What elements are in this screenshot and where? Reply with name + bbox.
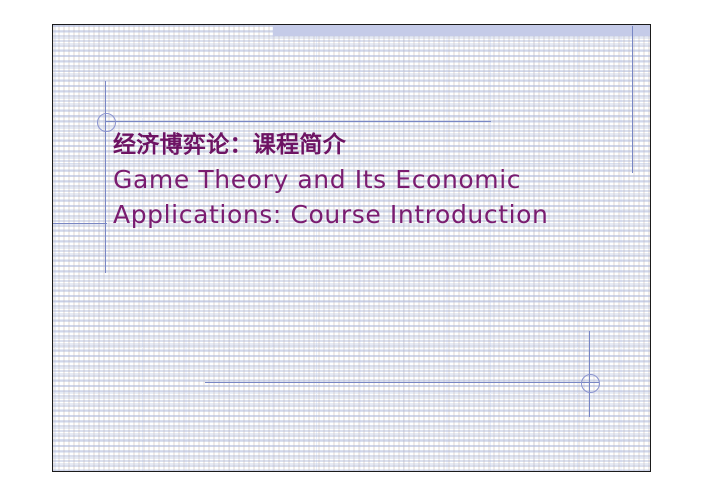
slide-canvas: 经济博弈论：课程简介 Game Theory and Its Economic … xyxy=(0,0,702,496)
slide-frame: 经济博弈论：课程简介 Game Theory and Its Economic … xyxy=(52,24,651,472)
title-horizontal-rule xyxy=(105,121,491,122)
bottom-horizontal-rule xyxy=(205,382,599,383)
slide-title-english-line-2: Applications: Course Introduction xyxy=(113,197,643,232)
bottom-rule-circle-icon xyxy=(581,374,600,393)
slide-title-english-line-1: Game Theory and Its Economic xyxy=(113,162,643,197)
grid-major-lines xyxy=(53,25,650,471)
slide-title-block: 经济博弈论：课程简介 Game Theory and Its Economic … xyxy=(113,128,643,232)
slide-title-chinese: 经济博弈论：课程简介 xyxy=(113,128,643,162)
grid-minor-dots-secondary xyxy=(53,25,650,471)
title-lower-horizontal-rule xyxy=(53,223,107,224)
grid-minor-dots xyxy=(53,25,650,471)
title-vertical-rule xyxy=(105,81,106,273)
top-accent-band xyxy=(273,25,651,36)
